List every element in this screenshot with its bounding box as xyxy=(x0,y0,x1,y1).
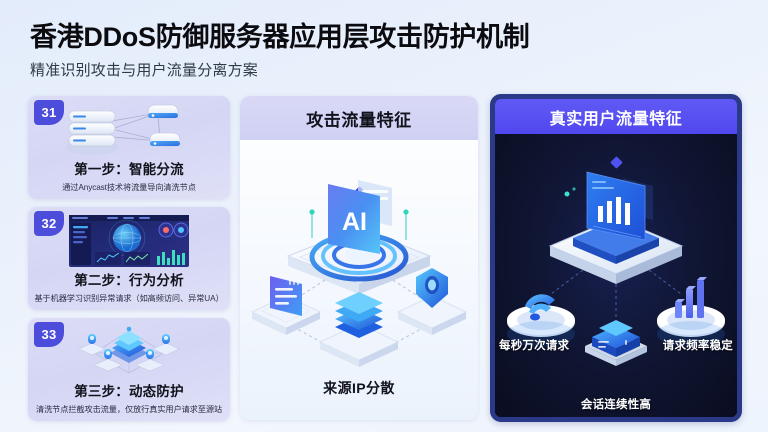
page-title: 香港DDoS防御服务器应用层攻击防护机制 xyxy=(30,22,530,52)
page-header: 香港DDoS防御服务器应用层攻击防护机制 精准识别攻击与用户流量分离方案 xyxy=(30,22,530,80)
step-badge-1: 31 xyxy=(34,100,64,125)
step-badge-3: 33 xyxy=(34,322,64,347)
step-card-2[interactable]: 32 xyxy=(28,207,230,310)
real-user-traffic-panel: 真实用户流量特征 xyxy=(490,94,742,422)
ai-card-label: AI xyxy=(342,208,367,236)
step-text-1: 第一步：智能分流 通过Anycast技术将流量导向清洗节点 xyxy=(28,158,230,193)
steps-column: 31 xyxy=(28,96,230,421)
step-text-3: 第三步：动态防护 清洗节点拦截攻击流量，仅放行真实用户请求至源站 xyxy=(28,380,230,415)
dashboard-isometric-illustration xyxy=(495,144,737,404)
real-user-panel-body: 每秒万次请求 请求频率稳定 会话连续性高 xyxy=(495,134,737,417)
step-card-1[interactable]: 31 xyxy=(28,96,230,199)
step-title-3: 第三步：动态防护 xyxy=(28,380,230,400)
label-stable-request-rate: 请求频率稳定 xyxy=(663,337,733,353)
step-desc-1: 通过Anycast技术将流量导向清洗节点 xyxy=(28,181,230,193)
ai-isometric-illustration: AI xyxy=(240,152,478,377)
step-card-3[interactable]: 33 xyxy=(28,318,230,421)
real-user-panel-header: 真实用户流量特征 xyxy=(495,99,737,134)
step-desc-2: 基于机器学习识别异常请求（如高频访问、异常UA） xyxy=(28,292,230,304)
real-user-panel-title: 真实用户流量特征 xyxy=(550,105,683,129)
attack-panel-caption: 来源IP分散 xyxy=(240,378,478,398)
step-title-2: 第二步：行为分析 xyxy=(28,269,230,289)
label-session-continuity: 会话连续性高 xyxy=(495,396,737,412)
attack-panel-header: 攻击流量特征 xyxy=(240,96,478,140)
attack-panel-title: 攻击流量特征 xyxy=(306,106,412,131)
step-title-1: 第一步：智能分流 xyxy=(28,158,230,178)
attack-traffic-panel: 攻击流量特征 xyxy=(240,96,478,420)
label-requests-per-second: 每秒万次请求 xyxy=(499,337,569,353)
attack-panel-body: AI xyxy=(240,140,478,420)
step-text-2: 第二步：行为分析 基于机器学习识别异常请求（如高频访问、异常UA） xyxy=(28,269,230,304)
page-subtitle: 精准识别攻击与用户流量分离方案 xyxy=(30,59,530,80)
step-badge-2: 32 xyxy=(34,211,64,236)
step-desc-3: 清洗节点拦截攻击流量，仅放行真实用户请求至源站 xyxy=(28,403,230,415)
